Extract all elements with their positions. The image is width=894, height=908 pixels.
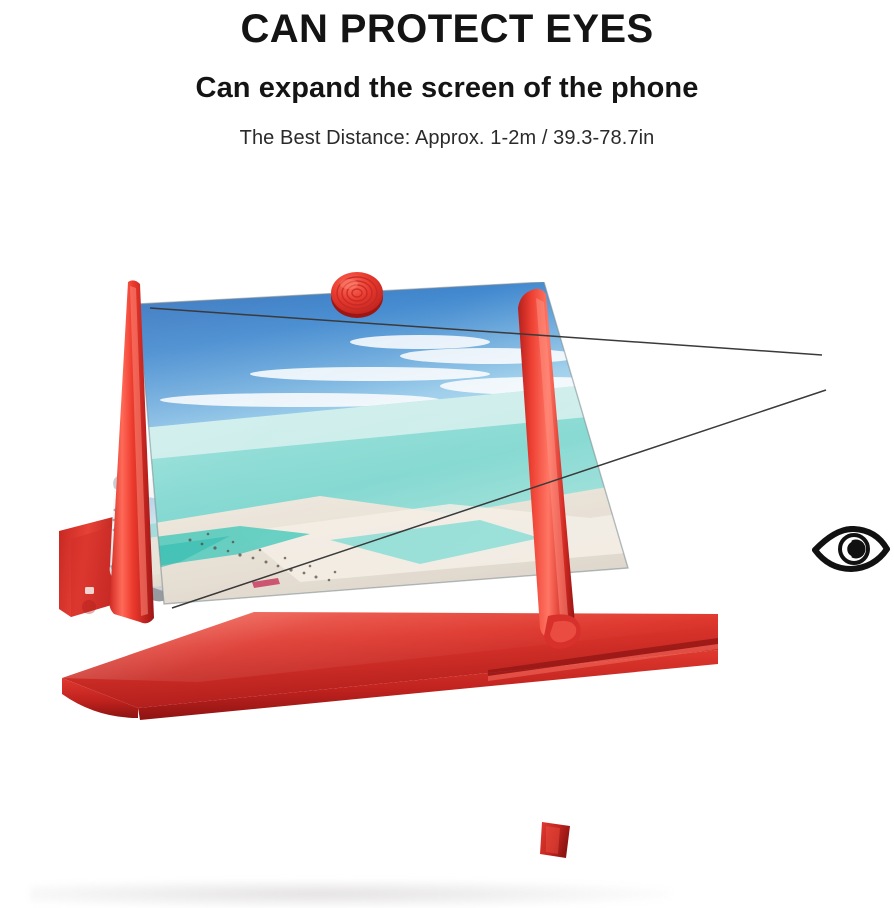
product-marketing-image: CAN PROTECT EYES Can expand the screen o…: [0, 0, 894, 754]
ground-shadow: [30, 880, 670, 908]
sightline-group: [0, 190, 894, 754]
eye-icon: [812, 526, 890, 572]
sightline-lower: [172, 390, 826, 608]
folding-foot: [540, 820, 574, 862]
page-title: CAN PROTECT EYES: [0, 0, 894, 53]
page-subtitle: Can expand the screen of the phone: [0, 53, 894, 108]
page-tagline: The Best Distance: Approx. 1-2m / 39.3-7…: [0, 108, 894, 152]
sightline-upper: [150, 308, 822, 355]
product-stage: [0, 190, 894, 754]
heading-block: CAN PROTECT EYES Can expand the screen o…: [0, 0, 894, 152]
